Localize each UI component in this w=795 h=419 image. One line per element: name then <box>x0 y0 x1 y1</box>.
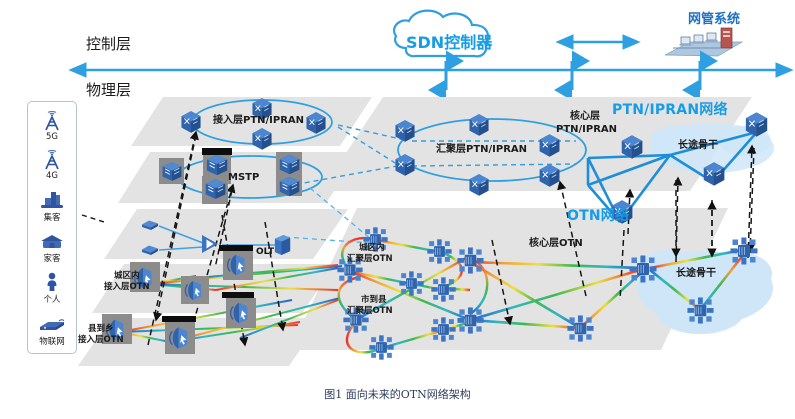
control-to-physical-arrows <box>446 61 700 90</box>
cell-tower-icon <box>41 148 63 170</box>
legend-item-personal: 个人 <box>28 270 76 305</box>
legend-label-enterprise: 集客 <box>43 211 60 223</box>
legend-label-personal: 个人 <box>43 293 60 305</box>
legend-label-5g: 5G <box>46 132 58 142</box>
figure-canvas: 控制层 物理层 SDN控制器 网管系统 PTN/IPRAN网络 OTN网络 接入… <box>0 0 795 419</box>
nms-icon <box>665 28 742 56</box>
legend-item-4g: 4G <box>28 148 76 181</box>
iot-gateway-icon <box>37 312 67 334</box>
sdn-controller-cloud <box>394 11 488 57</box>
legend-item-5g: 5G <box>28 109 76 142</box>
enterprise-building-icon <box>39 188 65 210</box>
person-icon <box>44 270 60 292</box>
cell-tower-icon <box>41 109 63 131</box>
legend-label-home: 家客 <box>43 252 60 264</box>
legend-item-home: 家客 <box>28 229 76 264</box>
network-architecture-svg <box>0 0 795 419</box>
legend-item-iot: 物联网 <box>28 312 76 347</box>
legend-item-enterprise: 集客 <box>28 188 76 223</box>
legend-label-4g: 4G <box>46 171 58 181</box>
access-service-legend: 5G 4G <box>27 101 77 354</box>
legend-connector <box>82 215 104 222</box>
legend-label-iot: 物联网 <box>39 335 65 347</box>
home-icon <box>39 229 65 251</box>
figure-caption: 图1 面向未来的OTN网络架构 <box>0 386 795 402</box>
